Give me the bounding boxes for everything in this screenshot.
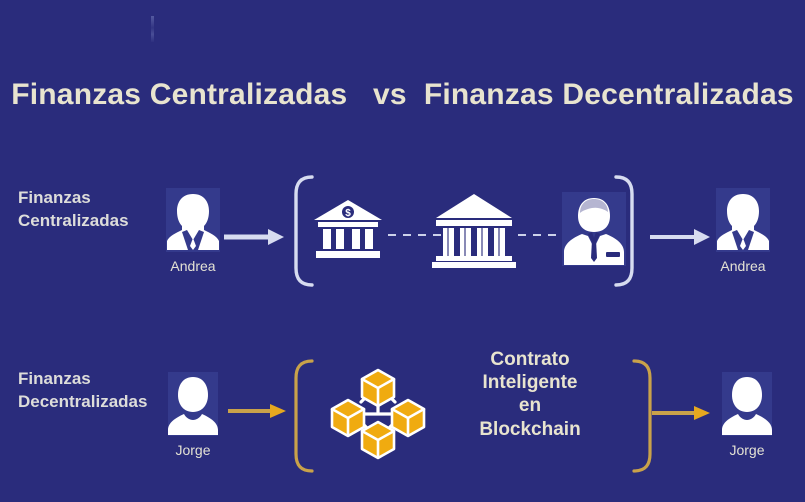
row-label-decentralized: Finanzas Decentralizadas xyxy=(18,368,147,414)
arrow-sender-to-pipeline-decentralized xyxy=(228,402,290,425)
female-avatar-icon xyxy=(700,188,786,256)
avatar-receiver-centralized: Andrea xyxy=(700,188,786,274)
avatar-name-sender-decentralized: Jorge xyxy=(150,442,236,458)
blockchain-nodes-icon xyxy=(330,368,426,465)
row-label-centralized: Finanzas Centralizadas xyxy=(18,187,129,233)
avatar-name-sender-centralized: Andrea xyxy=(150,258,236,274)
arrow-sender-to-pipeline-centralized xyxy=(224,228,286,251)
arrow-pipeline-to-receiver-decentralized xyxy=(652,404,712,427)
avatar-name-receiver-centralized: Andrea xyxy=(700,258,786,274)
bracket-right-centralized xyxy=(612,174,638,293)
avatar-sender-decentralized: Jorge xyxy=(150,372,236,458)
male-avatar-icon xyxy=(704,372,790,440)
male-avatar-icon xyxy=(150,372,236,440)
svg-text:$: $ xyxy=(345,208,351,219)
bank-building-icon: $ xyxy=(312,198,384,267)
text-cursor-artifact xyxy=(151,16,154,42)
bracket-left-decentralized xyxy=(290,358,316,479)
slide-canvas: Finanzas Centralizadas vs Finanzas Decen… xyxy=(0,0,805,502)
avatar-receiver-decentralized: Jorge xyxy=(704,372,790,458)
smart-contract-label: Contrato Inteligente en Blockchain xyxy=(440,348,620,441)
avatar-name-receiver-decentralized: Jorge xyxy=(704,442,790,458)
classical-institution-icon xyxy=(432,192,516,275)
page-title: Finanzas Centralizadas vs Finanzas Decen… xyxy=(0,78,805,112)
